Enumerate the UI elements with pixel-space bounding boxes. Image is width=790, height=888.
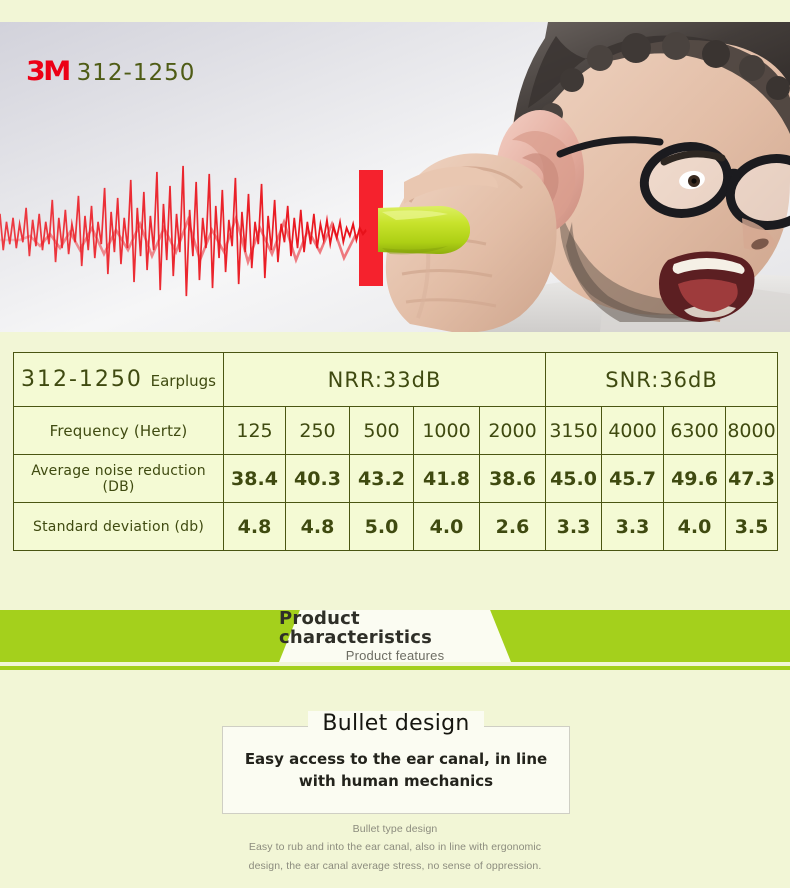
feature-legend-text: Bullet design — [308, 711, 483, 736]
cell-frequency-8: 8000 — [726, 407, 778, 455]
cell-snr: SNR:36dB — [546, 353, 778, 407]
cell-average-1: 40.3 — [286, 455, 350, 503]
row-label-frequency: Frequency (Hertz) — [14, 407, 224, 455]
model-number-text: 312-1250 — [21, 367, 143, 392]
feature-box-bullet-design: Bullet design Easy access to the ear can… — [222, 726, 570, 814]
cell-stddev-8: 3.5 — [726, 503, 778, 551]
cell-stddev-3: 4.0 — [414, 503, 480, 551]
cell-average-6: 45.7 — [602, 455, 664, 503]
banner-title: Product characteristics — [279, 609, 511, 649]
cell-frequency-5: 3150 — [546, 407, 602, 455]
footnote-line-2: Easy to rub and into the ear canal, also… — [120, 838, 670, 856]
cell-stddev-5: 3.3 — [546, 503, 602, 551]
cell-stddev-6: 3.3 — [602, 503, 664, 551]
cell-average-4: 38.6 — [480, 455, 546, 503]
cell-frequency-3: 1000 — [414, 407, 480, 455]
cell-stddev-4: 2.6 — [480, 503, 546, 551]
feature-description: Easy access to the ear canal, in line wi… — [223, 749, 569, 793]
table-row-title: 312-1250 Earplugs NRR:33dB SNR:36dB — [14, 353, 778, 407]
brand-model-number: 312-1250 — [77, 62, 196, 85]
cell-stddev-2: 5.0 — [350, 503, 414, 551]
model-word-text: Earplugs — [151, 372, 216, 390]
feature-legend: Bullet design — [223, 711, 569, 736]
cell-frequency-6: 4000 — [602, 407, 664, 455]
brand-3m-mark: 3M — [26, 58, 69, 85]
specification-table: 312-1250 Earplugs NRR:33dB SNR:36dB Freq… — [13, 352, 778, 551]
cell-average-7: 49.6 — [664, 455, 726, 503]
cell-frequency-4: 2000 — [480, 407, 546, 455]
table-row-frequency: Frequency (Hertz) 125 250 500 1000 2000 … — [14, 407, 778, 455]
section-banner: Product characteristics Product features — [0, 610, 790, 662]
banner-text-group: Product characteristics Product features — [279, 610, 511, 662]
footnote-block: Bullet type design Easy to rub and into … — [120, 820, 670, 875]
cell-average-8: 47.3 — [726, 455, 778, 503]
cell-average-3: 41.8 — [414, 455, 480, 503]
cell-average-0: 38.4 — [224, 455, 286, 503]
cell-frequency-0: 125 — [224, 407, 286, 455]
banner-accent-rule — [0, 666, 790, 670]
cell-average-2: 43.2 — [350, 455, 414, 503]
brand-logo: 3M 312-1250 — [26, 58, 195, 85]
cell-nrr: NRR:33dB — [224, 353, 546, 407]
banner-subtitle: Product features — [346, 649, 445, 663]
table-row-average-noise-reduction: Average noise reduction (DB) 38.4 40.3 4… — [14, 455, 778, 503]
footnote-line-3: design, the ear canal average stress, no… — [120, 857, 670, 875]
row-label-standard-deviation: Standard deviation (db) — [14, 503, 224, 551]
specification-table-container: 312-1250 Earplugs NRR:33dB SNR:36dB Freq… — [13, 352, 777, 551]
cell-frequency-2: 500 — [350, 407, 414, 455]
footnote-line-1: Bullet type design — [120, 820, 670, 838]
table-row-standard-deviation: Standard deviation (db) 4.8 4.8 5.0 4.0 … — [14, 503, 778, 551]
row-label-average-noise-reduction: Average noise reduction (DB) — [14, 455, 224, 503]
cell-stddev-0: 4.8 — [224, 503, 286, 551]
cell-frequency-1: 250 — [286, 407, 350, 455]
cell-stddev-1: 4.8 — [286, 503, 350, 551]
hero-banner: 3M 312-1250 — [0, 22, 790, 332]
cell-average-5: 45.0 — [546, 455, 602, 503]
cell-stddev-7: 4.0 — [664, 503, 726, 551]
cell-frequency-7: 6300 — [664, 407, 726, 455]
cell-model-title: 312-1250 Earplugs — [14, 353, 224, 407]
